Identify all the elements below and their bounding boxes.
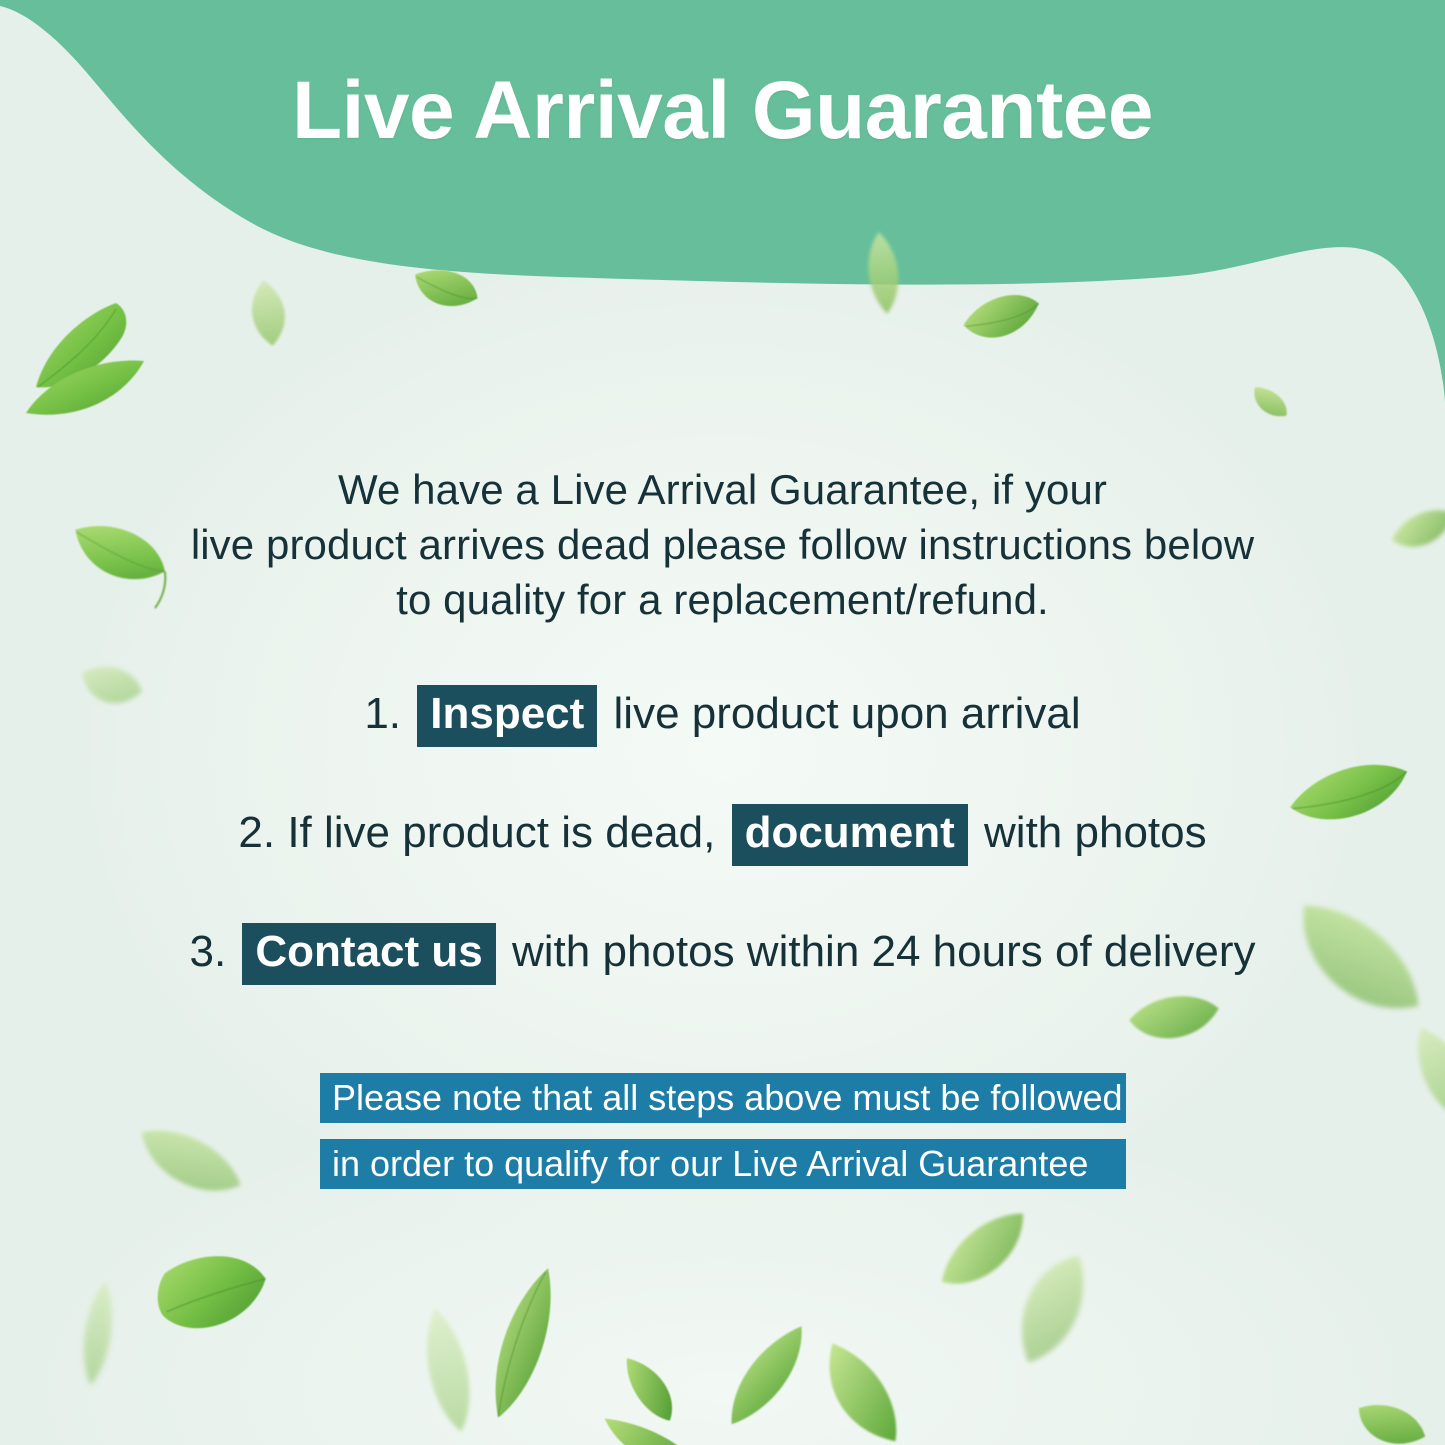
- step-2-after-text: with photos: [984, 808, 1207, 857]
- step-2-before-text: If live product is dead,: [287, 808, 715, 857]
- step-3-highlight: Contact us: [242, 923, 495, 985]
- leaf-icon: [856, 228, 911, 318]
- step-1-highlight: Inspect: [417, 685, 597, 747]
- intro-line-1: We have a Live Arrival Guarantee, if you…: [0, 462, 1445, 517]
- intro-line-2: live product arrives dead please follow …: [0, 517, 1445, 572]
- leaf-icon: [952, 274, 1055, 364]
- page-title: Live Arrival Guarantee: [0, 68, 1445, 154]
- step-1-number: 1.: [364, 689, 401, 738]
- steps-list: 1. Inspect live product upon arrival 2. …: [0, 683, 1445, 1040]
- leaf-icon: [18, 295, 158, 425]
- leaf-icon: [974, 1228, 1122, 1382]
- leaf-icon: [142, 1235, 283, 1356]
- leaf-icon: [1345, 1389, 1436, 1445]
- leaf-icon: [480, 1261, 566, 1427]
- leaf-icon: [403, 258, 485, 326]
- step-3-number: 3.: [189, 927, 226, 976]
- step-3: 3. Contact us with photos within 24 hour…: [0, 921, 1445, 985]
- step-1-after-text: live product upon arrival: [614, 689, 1081, 738]
- step-2-highlight: document: [732, 804, 968, 866]
- live-arrival-guarantee-poster: Live Arrival Guarantee: [0, 0, 1445, 1445]
- footer-note: Please note that all steps above must be…: [320, 1073, 1126, 1189]
- leaf-icon: [802, 1337, 905, 1445]
- note-bar-line-1: Please note that all steps above must be…: [320, 1073, 1126, 1123]
- leaf-icon: [582, 1340, 718, 1445]
- intro-line-3: to quality for a replacement/refund.: [0, 572, 1445, 627]
- step-2: 2. If live product is dead, document wit…: [0, 802, 1445, 866]
- step-1: 1. Inspect live product upon arrival: [0, 683, 1445, 747]
- leaf-icon: [71, 1276, 126, 1390]
- leaf-icon: [714, 1307, 823, 1445]
- leaf-icon: [1241, 378, 1297, 430]
- note-bar-gap: [320, 1123, 1126, 1139]
- note-bar-line-2: in order to qualify for our Live Arrival…: [320, 1139, 1126, 1189]
- leaf-icon: [924, 1192, 1051, 1313]
- leaf-icon: [407, 1301, 489, 1440]
- step-3-after-text: with photos within 24 hours of delivery: [512, 927, 1256, 976]
- step-2-number: 2.: [238, 808, 275, 857]
- leaf-icon: [119, 1106, 258, 1224]
- intro-paragraph: We have a Live Arrival Guarantee, if you…: [0, 462, 1445, 627]
- leaf-icon: [233, 274, 302, 352]
